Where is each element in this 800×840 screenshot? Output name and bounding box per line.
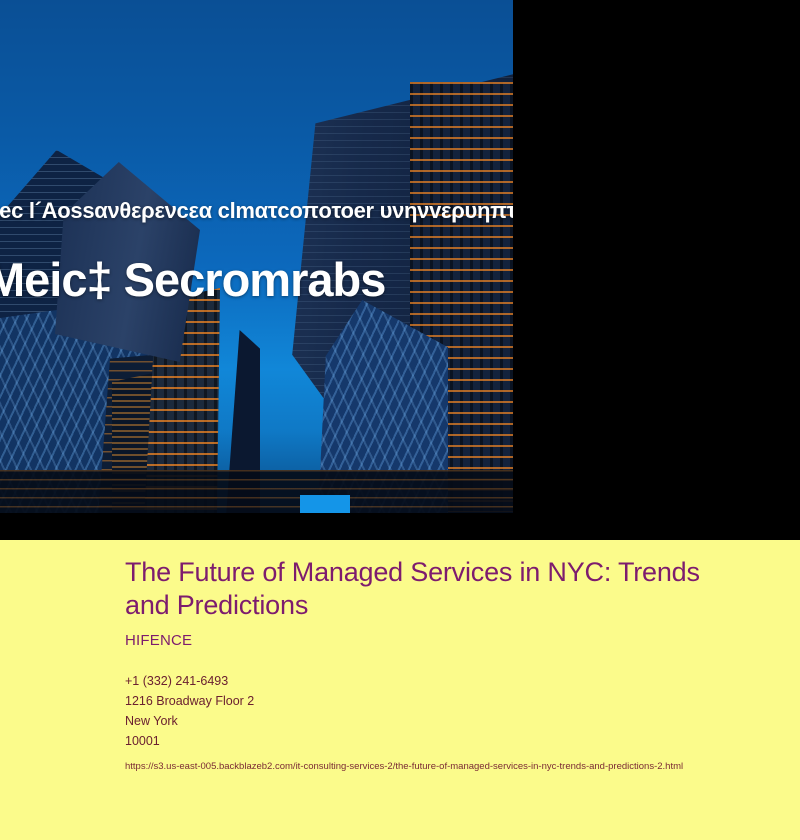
- brand-name: HIFENCE: [125, 632, 786, 649]
- source-url-link[interactable]: https://s3.us-east-005.backblazeb2.com/i…: [125, 760, 786, 774]
- hero-image: uec l´Αossανθερενcεα clmατcοπoτοer υνηνv…: [0, 0, 513, 513]
- sky-gap: [300, 495, 350, 513]
- contact-city: New York: [125, 711, 786, 731]
- hero-banner: uec l´Αossανθερενcεα clmατcοπoτοer υνηνv…: [0, 0, 800, 540]
- building-foreground-strip: [0, 470, 513, 513]
- info-content: The Future of Managed Services in NYC: T…: [125, 556, 786, 774]
- page-root: uec l´Αossανθερενcεα clmατcοπoτοer υνηνv…: [0, 0, 800, 840]
- contact-phone[interactable]: +1 (332) 241-6493: [125, 671, 786, 691]
- contact-zip: 10001: [125, 731, 786, 751]
- contact-street: 1216 Broadway Floor 2: [125, 691, 786, 711]
- info-panel: The Future of Managed Services in NYC: T…: [0, 540, 800, 840]
- page-title: The Future of Managed Services in NYC: T…: [125, 556, 725, 622]
- building-window-rows: [0, 470, 513, 513]
- contact-block: +1 (332) 241-6493 1216 Broadway Floor 2 …: [125, 671, 786, 751]
